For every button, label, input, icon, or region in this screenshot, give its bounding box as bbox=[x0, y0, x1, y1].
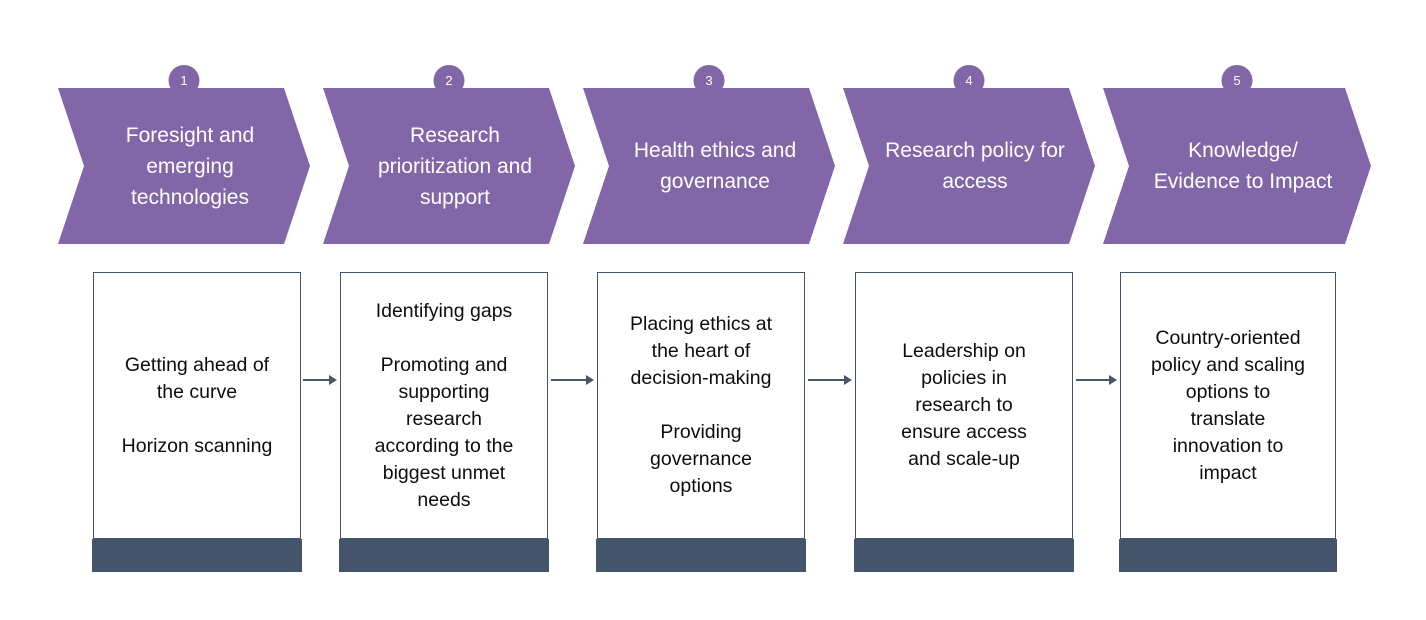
stage-title-3: Health ethics and governance bbox=[592, 135, 826, 197]
stage-title-1: Foresight and emerging technologies bbox=[84, 120, 284, 213]
stage-chevron-4[interactable]: 4 Research policy for access bbox=[843, 88, 1095, 244]
flow-arrow-icon-1-to-2 bbox=[303, 374, 337, 386]
detail-card-3[interactable]: Placing ethics at the heart of decision-… bbox=[597, 272, 805, 572]
diagram-canvas: 1 Foresight and emerging technologies 2 … bbox=[0, 0, 1426, 620]
stage-title-5: Knowledge/ Evidence to Impact bbox=[1112, 135, 1363, 197]
flow-arrow-icon-4-to-5 bbox=[1076, 374, 1117, 386]
detail-card-text-1: Getting ahead of the curve Horizon scann… bbox=[116, 352, 279, 460]
detail-card-text-2: Identifying gaps Promoting and supportin… bbox=[369, 298, 520, 514]
detail-card-footer-2 bbox=[339, 539, 549, 572]
stage-chevron-2[interactable]: 2 Research prioritization and support bbox=[323, 88, 575, 244]
detail-card-1[interactable]: Getting ahead of the curve Horizon scann… bbox=[93, 272, 301, 572]
detail-card-footer-4 bbox=[854, 539, 1074, 572]
stage-chevron-body-4: Research policy for access bbox=[843, 88, 1095, 244]
stage-chevron-body-3: Health ethics and governance bbox=[583, 88, 835, 244]
detail-card-frame-2: Identifying gaps Promoting and supportin… bbox=[340, 272, 548, 539]
detail-card-text-5: Country-oriented policy and scaling opti… bbox=[1145, 325, 1311, 487]
arrow-shaft bbox=[551, 379, 586, 381]
detail-card-frame-1: Getting ahead of the curve Horizon scann… bbox=[93, 272, 301, 539]
flow-arrow-icon-3-to-4 bbox=[808, 374, 852, 386]
detail-card-frame-3: Placing ethics at the heart of decision-… bbox=[597, 272, 805, 539]
detail-card-footer-5 bbox=[1119, 539, 1337, 572]
detail-card-footer-1 bbox=[92, 539, 302, 572]
arrow-head bbox=[844, 375, 852, 385]
detail-card-frame-5: Country-oriented policy and scaling opti… bbox=[1120, 272, 1336, 539]
detail-card-5[interactable]: Country-oriented policy and scaling opti… bbox=[1120, 272, 1336, 572]
detail-card-text-4: Leadership on policies in research to en… bbox=[895, 338, 1033, 473]
arrow-shaft bbox=[808, 379, 844, 381]
arrow-head bbox=[586, 375, 594, 385]
stage-title-4: Research policy for access bbox=[843, 135, 1095, 197]
stage-title-2: Research prioritization and support bbox=[336, 120, 562, 213]
stage-chevron-1[interactable]: 1 Foresight and emerging technologies bbox=[58, 88, 310, 244]
arrow-head bbox=[329, 375, 337, 385]
detail-card-frame-4: Leadership on policies in research to en… bbox=[855, 272, 1073, 539]
detail-card-text-3: Placing ethics at the heart of decision-… bbox=[624, 311, 778, 500]
stage-chevron-5[interactable]: 5 Knowledge/ Evidence to Impact bbox=[1103, 88, 1371, 244]
stage-chevron-body-1: Foresight and emerging technologies bbox=[58, 88, 310, 244]
detail-card-footer-3 bbox=[596, 539, 806, 572]
stage-chevron-3[interactable]: 3 Health ethics and governance bbox=[583, 88, 835, 244]
stage-chevron-body-5: Knowledge/ Evidence to Impact bbox=[1103, 88, 1371, 244]
stage-chevron-body-2: Research prioritization and support bbox=[323, 88, 575, 244]
detail-card-4[interactable]: Leadership on policies in research to en… bbox=[855, 272, 1073, 572]
arrow-shaft bbox=[1076, 379, 1109, 381]
arrow-shaft bbox=[303, 379, 329, 381]
flow-arrow-icon-2-to-3 bbox=[551, 374, 594, 386]
detail-card-2[interactable]: Identifying gaps Promoting and supportin… bbox=[340, 272, 548, 572]
arrow-head bbox=[1109, 375, 1117, 385]
